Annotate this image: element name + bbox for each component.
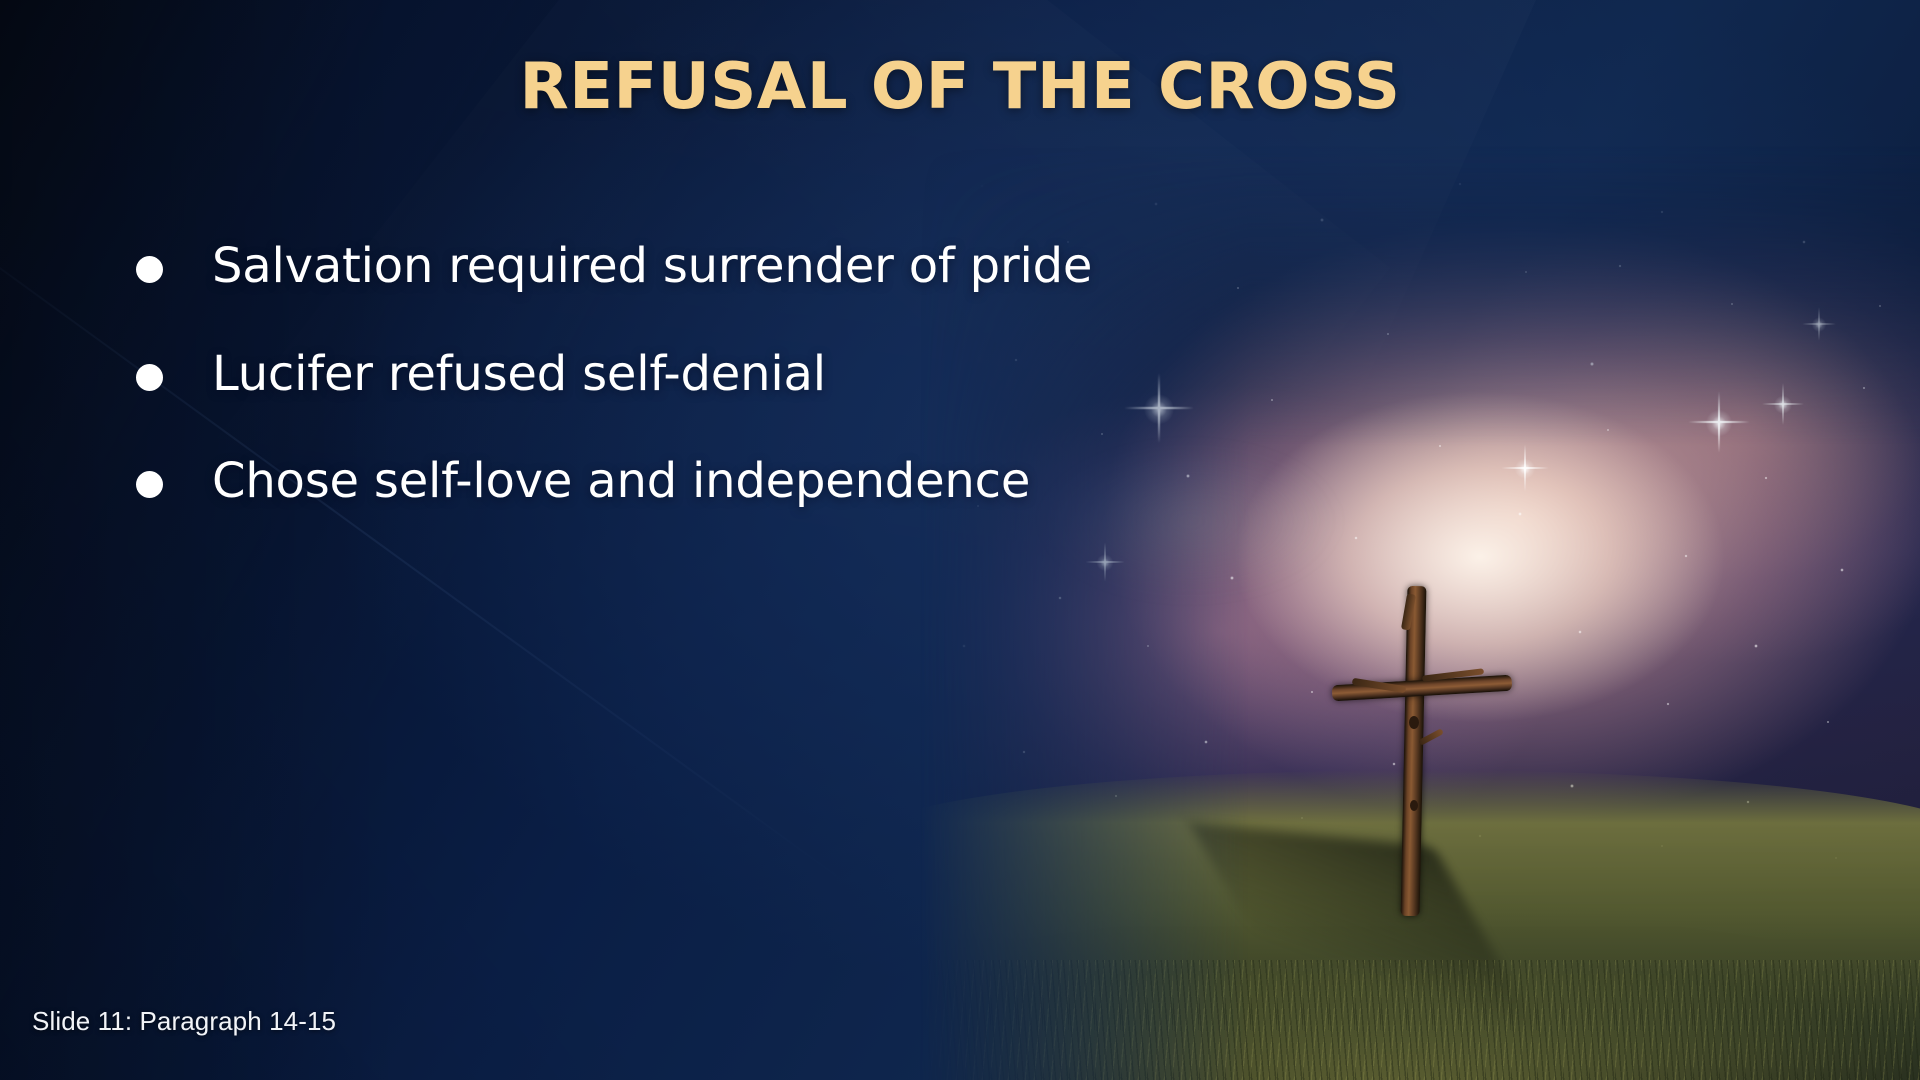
bullet-dot-icon: [136, 256, 163, 283]
star-sparkle-icon: [1818, 307, 1819, 341]
slide-footer-reference: Slide 11: Paragraph 14-15: [32, 1006, 336, 1037]
bullet-dot-icon: [136, 364, 163, 391]
slide-title: REFUSAL OF THE CROSS: [0, 50, 1920, 124]
list-item: Lucifer refused self-denial: [136, 346, 1406, 404]
cross-vertical-beam: [1401, 586, 1427, 916]
bullet-item-label: Lucifer refused self-denial: [212, 346, 826, 404]
star-sparkle-icon: [1782, 383, 1784, 425]
wooden-cross-icon: [1326, 586, 1516, 916]
bullet-item-label: Chose self-love and independence: [212, 453, 1030, 511]
bullet-dot-icon: [136, 471, 163, 498]
list-item: Salvation required surrender of pride: [136, 238, 1406, 296]
bullet-item-label: Salvation required surrender of pride: [212, 238, 1092, 296]
bullet-list: Salvation required surrender of pride Lu…: [136, 238, 1406, 561]
star-sparkle-icon: [1524, 444, 1526, 492]
cross-wood-knot: [1409, 716, 1419, 729]
star-sparkle-icon: [1718, 391, 1720, 453]
cross-wood-knot: [1410, 800, 1418, 811]
list-item: Chose self-love and independence: [136, 453, 1406, 511]
presentation-slide: Pride REFUSAL OF THE CROSS Salvation req…: [0, 0, 1920, 1080]
